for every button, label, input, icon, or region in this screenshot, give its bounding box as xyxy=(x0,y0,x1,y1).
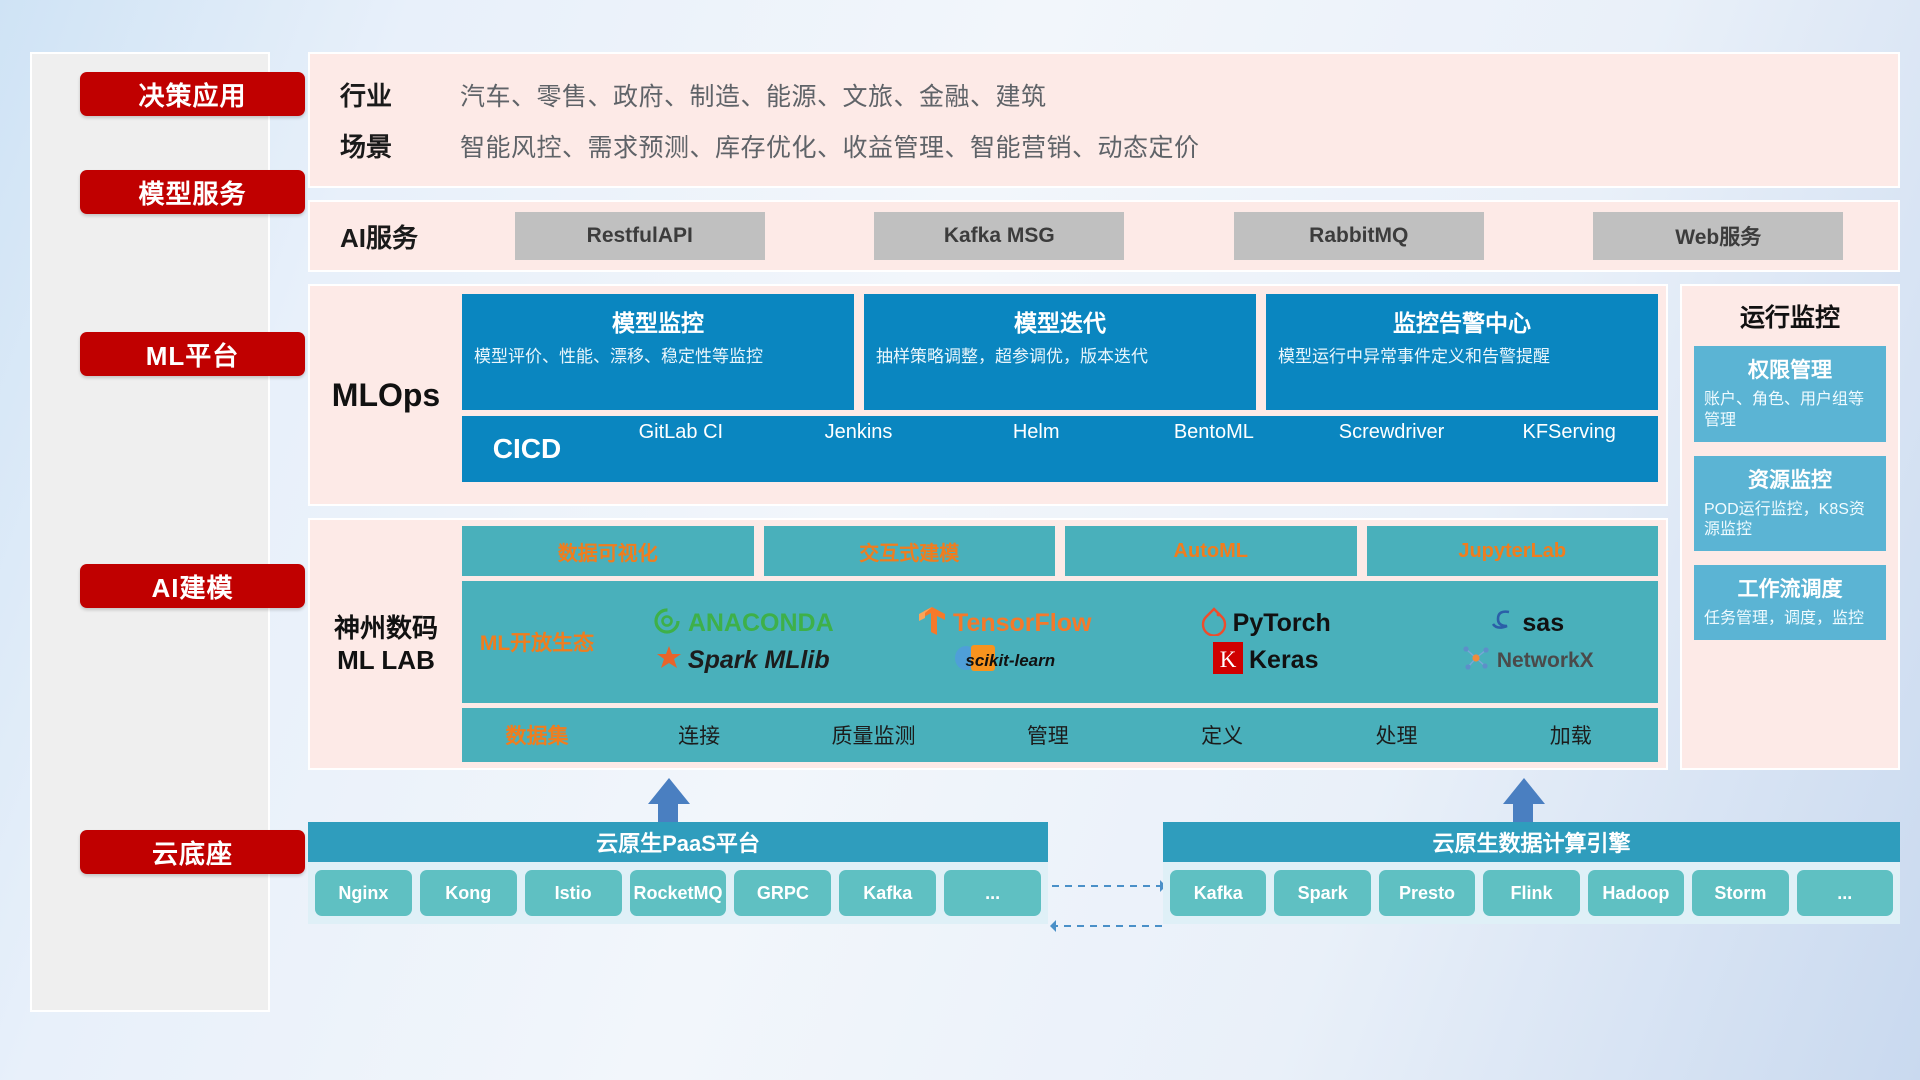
monitor-card-workflow[interactable]: 工作流调度 任务管理，调度，监控 xyxy=(1694,565,1886,640)
ml-lab-label: 神州数码 ML LAB xyxy=(310,520,462,768)
card-title: 监控告警中心 xyxy=(1278,304,1646,338)
dataset-row: 数据集 连接 质量监测 管理 定义 处理 加载 xyxy=(462,708,1658,762)
ai-service-label: AI服务 xyxy=(340,218,460,255)
cicd-item-jenkins[interactable]: Jenkins xyxy=(770,422,948,476)
card-desc: 模型运行中异常事件定义和告警提醒 xyxy=(1278,346,1646,369)
ml-ecosystem-logo-grid: ANACONDA TensorFlow xyxy=(612,605,1658,679)
networkx-icon xyxy=(1461,643,1491,678)
architecture-diagram: 决策应用 模型服务 ML平台 AI建模 云底座 行业 汽车、零售、政府、制造、能… xyxy=(0,0,1920,1080)
cloud-chip-spark[interactable]: Spark xyxy=(1274,870,1370,916)
cloud-chip-hadoop[interactable]: Hadoop xyxy=(1588,870,1684,916)
card-title: 资源监控 xyxy=(1704,464,1876,494)
card-desc: 任务管理，调度，监控 xyxy=(1704,609,1876,630)
logo-label: sas xyxy=(1522,609,1564,638)
cloud-chip-istio[interactable]: Istio xyxy=(525,870,622,916)
runtime-monitor-panel: 运行监控 权限管理 账户、角色、用户组等管理 资源监控 POD运行监控，K8S资… xyxy=(1680,284,1900,770)
sas-icon xyxy=(1490,606,1516,641)
dataset-item-quality[interactable]: 质量监测 xyxy=(786,720,960,750)
service-restfulapi[interactable]: RestfulAPI xyxy=(515,212,765,260)
ai-service-band: AI服务 RestfulAPI Kafka MSG RabbitMQ Web服务 xyxy=(308,200,1900,272)
cicd-item-screwdriver[interactable]: Screwdriver xyxy=(1303,422,1481,476)
industry-row: 行业 汽车、零售、政府、制造、能源、文旅、金融、建筑 xyxy=(340,76,1898,113)
logo-networkx: NetworkX xyxy=(1461,643,1594,678)
dataset-item-process[interactable]: 处理 xyxy=(1309,720,1483,750)
mlops-card-alert-center[interactable]: 监控告警中心 模型运行中异常事件定义和告警提醒 xyxy=(1266,294,1658,410)
service-rabbitmq[interactable]: RabbitMQ xyxy=(1234,212,1484,260)
logo-label: Keras xyxy=(1249,646,1319,675)
card-desc: POD运行监控，K8S资源监控 xyxy=(1704,500,1876,542)
mlops-card-list: 模型监控 模型评价、性能、漂移、稳定性等监控 模型迭代 抽样策略调整，超参调优，… xyxy=(462,294,1658,410)
cicd-label: CICD xyxy=(462,433,592,465)
ml-ecosystem-label: ML开放生态 xyxy=(462,627,612,657)
dataset-item-manage[interactable]: 管理 xyxy=(961,720,1135,750)
tab-interactive-modeling[interactable]: 交互式建模 xyxy=(764,526,1056,576)
cloud-paas-title: 云原生PaaS平台 xyxy=(308,822,1048,862)
card-title: 模型迭代 xyxy=(876,304,1244,338)
card-title: 权限管理 xyxy=(1704,354,1876,384)
dataset-item-connect[interactable]: 连接 xyxy=(612,720,786,750)
cloud-chip-storm[interactable]: Storm xyxy=(1692,870,1788,916)
logo-label: PyTorch xyxy=(1233,609,1331,638)
ml-lab-label-line1: 神州数码 xyxy=(334,612,438,645)
logo-keras: K Keras xyxy=(1213,642,1319,679)
dataset-label: 数据集 xyxy=(462,720,612,750)
cloud-paas-group: 云原生PaaS平台 Nginx Kong Istio RocketMQ GRPC… xyxy=(308,822,1048,924)
ml-ecosystem-row: ML开放生态 ANACONDA xyxy=(462,581,1658,703)
ml-lab-label-line2: ML LAB xyxy=(337,644,435,677)
tab-automl[interactable]: AutoML xyxy=(1065,526,1357,576)
ml-lab-band: 神州数码 ML LAB 数据可视化 交互式建模 AutoML JupyterLa… xyxy=(308,518,1668,770)
card-title: 工作流调度 xyxy=(1704,573,1876,603)
tensorflow-icon xyxy=(917,605,947,642)
stage-chip-decision[interactable]: 决策应用 xyxy=(80,72,305,116)
scenario-label: 场景 xyxy=(340,127,460,164)
logo-tensorflow: TensorFlow xyxy=(917,605,1091,642)
logo-label: TensorFlow xyxy=(953,609,1091,638)
cloud-data-engine-group: 云原生数据计算引擎 Kafka Spark Presto Flink Hadoo… xyxy=(1163,822,1900,924)
logo-label: Spark MLlib xyxy=(688,646,830,675)
logo-pytorch: PyTorch xyxy=(1201,606,1331,641)
card-desc: 账户、角色、用户组等管理 xyxy=(1704,390,1876,432)
arrow-stem-data-engine-icon xyxy=(1513,800,1533,822)
cloud-data-engine-title: 云原生数据计算引擎 xyxy=(1163,822,1900,862)
mlops-label: MLOps xyxy=(310,286,462,504)
cloud-chip-presto[interactable]: Presto xyxy=(1379,870,1475,916)
svg-text:K: K xyxy=(1220,647,1237,672)
bidirectional-link xyxy=(1048,872,1166,942)
cicd-bar: CICD GitLab CI Jenkins Helm BentoML Scre… xyxy=(462,416,1658,482)
cloud-chip-flink[interactable]: Flink xyxy=(1483,870,1579,916)
service-web[interactable]: Web服务 xyxy=(1593,212,1843,260)
keras-icon: K xyxy=(1213,642,1243,679)
cloud-chip-kong[interactable]: Kong xyxy=(420,870,517,916)
cicd-item-gitlab-ci[interactable]: GitLab CI xyxy=(592,422,770,476)
cicd-item-helm[interactable]: Helm xyxy=(947,422,1125,476)
service-kafka-msg[interactable]: Kafka MSG xyxy=(874,212,1124,260)
cloud-chip-kafka-data[interactable]: Kafka xyxy=(1170,870,1266,916)
logo-anaconda: ANACONDA xyxy=(652,606,834,641)
industry-label: 行业 xyxy=(340,76,460,113)
mlops-card-model-monitor[interactable]: 模型监控 模型评价、性能、漂移、稳定性等监控 xyxy=(462,294,854,410)
stage-chip-ml-platform[interactable]: ML平台 xyxy=(80,332,305,376)
card-title: 模型监控 xyxy=(474,304,842,338)
scenario-row: 场景 智能风控、需求预测、库存优化、收益管理、智能营销、动态定价 xyxy=(340,127,1898,164)
cloud-chip-rocketmq[interactable]: RocketMQ xyxy=(630,870,727,916)
cloud-chip-nginx[interactable]: Nginx xyxy=(315,870,412,916)
ml-lab-tab-list: 数据可视化 交互式建模 AutoML JupyterLab xyxy=(462,526,1658,576)
cloud-chip-more[interactable]: ... xyxy=(944,870,1041,916)
dataset-item-load[interactable]: 加载 xyxy=(1484,720,1658,750)
anaconda-icon xyxy=(652,606,682,641)
cloud-chip-grpc[interactable]: GRPC xyxy=(734,870,831,916)
industry-values: 汽车、零售、政府、制造、能源、文旅、金融、建筑 xyxy=(460,77,1047,113)
industry-scenario-band: 行业 汽车、零售、政府、制造、能源、文旅、金融、建筑 场景 智能风控、需求预测、… xyxy=(308,52,1900,188)
stage-chip-model-service[interactable]: 模型服务 xyxy=(80,170,305,214)
spark-icon xyxy=(656,645,682,676)
cicd-item-bentoml[interactable]: BentoML xyxy=(1125,422,1303,476)
arrow-stem-paas-icon xyxy=(658,800,678,822)
logo-label: ANACONDA xyxy=(688,609,834,638)
cicd-item-kfserving[interactable]: KFServing xyxy=(1480,422,1658,476)
tab-data-visualization[interactable]: 数据可视化 xyxy=(462,526,754,576)
cloud-chip-kafka[interactable]: Kafka xyxy=(839,870,936,916)
card-desc: 模型评价、性能、漂移、稳定性等监控 xyxy=(474,346,842,369)
content-area: 行业 汽车、零售、政府、制造、能源、文旅、金融、建筑 场景 智能风控、需求预测、… xyxy=(308,52,1900,1060)
logo-spark-mllib: Spark MLlib xyxy=(656,645,830,676)
pytorch-icon xyxy=(1201,606,1227,641)
logo-label: NetworkX xyxy=(1497,649,1594,673)
logo-scikit-learn: scikit-learn xyxy=(953,643,1055,678)
ai-service-list: RestfulAPI Kafka MSG RabbitMQ Web服务 xyxy=(460,212,1898,260)
scenario-values: 智能风控、需求预测、库存优化、收益管理、智能营销、动态定价 xyxy=(460,128,1200,164)
stage-column: 决策应用 模型服务 ML平台 AI建模 云底座 xyxy=(30,52,270,1012)
card-desc: 抽样策略调整，超参调优，版本迭代 xyxy=(876,346,1244,369)
logo-label: scikit-learn xyxy=(965,651,1055,671)
tab-jupyterlab[interactable]: JupyterLab xyxy=(1367,526,1659,576)
runtime-monitor-title: 运行监控 xyxy=(1694,298,1886,334)
cloud-data-engine-item-list: Kafka Spark Presto Flink Hadoop Storm ..… xyxy=(1163,862,1900,924)
mlops-band: MLOps 模型监控 模型评价、性能、漂移、稳定性等监控 模型迭代 抽样策略调整… xyxy=(308,284,1668,506)
monitor-card-resource[interactable]: 资源监控 POD运行监控，K8S资源监控 xyxy=(1694,456,1886,552)
stage-chip-cloud-base[interactable]: 云底座 xyxy=(80,830,305,874)
stage-chip-ai-modeling[interactable]: AI建模 xyxy=(80,564,305,608)
cloud-chip-more-data[interactable]: ... xyxy=(1797,870,1893,916)
monitor-card-permission[interactable]: 权限管理 账户、角色、用户组等管理 xyxy=(1694,346,1886,442)
dataset-item-define[interactable]: 定义 xyxy=(1135,720,1309,750)
logo-sas: sas xyxy=(1490,606,1564,641)
mlops-card-model-iteration[interactable]: 模型迭代 抽样策略调整，超参调优，版本迭代 xyxy=(864,294,1256,410)
cloud-paas-item-list: Nginx Kong Istio RocketMQ GRPC Kafka ... xyxy=(308,862,1048,924)
